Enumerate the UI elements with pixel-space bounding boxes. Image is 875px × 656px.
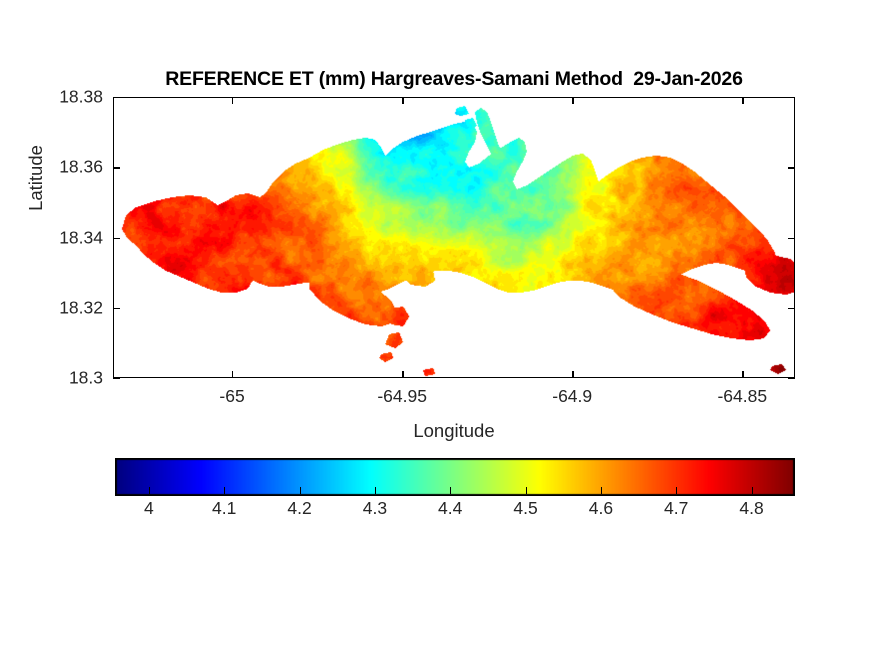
x-tick-mark — [742, 97, 743, 104]
colorbar-tick-label: 4.8 — [739, 498, 763, 519]
y-tick-mark — [113, 238, 120, 239]
colorbar-tick-label: 4.6 — [589, 498, 613, 519]
colorbar-tick-label: 4.5 — [513, 498, 537, 519]
page-title: REFERENCE ET (mm) Hargreaves-Samani Meth… — [113, 68, 795, 91]
y-tick-mark — [113, 97, 120, 98]
y-tick-mark — [113, 308, 120, 309]
y-tick-mark — [788, 238, 795, 239]
colorbar-tick-mark — [375, 487, 376, 494]
colorbar-tick-mark — [224, 487, 225, 494]
x-tick-mark — [402, 97, 403, 104]
colorbar-tick-label: 4.4 — [438, 498, 462, 519]
colorbar-tick-label: 4.7 — [664, 498, 688, 519]
x-tick-mark — [572, 371, 573, 378]
y-axis-label: Latitude — [25, 108, 47, 248]
colorbar-tick-mark — [601, 487, 602, 494]
colorbar-gradient — [115, 458, 795, 496]
y-tick-mark — [113, 167, 120, 168]
colorbar-tick-mark — [149, 487, 150, 494]
colorbar-tick-mark — [752, 487, 753, 494]
y-tick-mark — [788, 308, 795, 309]
y-tick-label: 18.38 — [3, 87, 103, 108]
colorbar-tick-mark — [526, 487, 527, 494]
colorbar-tick-label: 4 — [144, 498, 154, 519]
y-tick-mark — [788, 378, 795, 379]
colorbar-tick-mark — [676, 487, 677, 494]
reference-et-heatmap — [114, 98, 794, 377]
y-tick-label: 18.3 — [3, 368, 103, 389]
colorbar-container — [115, 458, 793, 494]
x-tick-label: -64.95 — [377, 386, 427, 407]
x-tick-mark — [232, 371, 233, 378]
x-tick-mark — [572, 97, 573, 104]
x-tick-label: -64.85 — [717, 386, 767, 407]
y-tick-mark — [788, 167, 795, 168]
y-tick-label: 18.32 — [3, 297, 103, 318]
colorbar-tick-label: 4.2 — [287, 498, 311, 519]
colorbar-tick-label: 4.3 — [363, 498, 387, 519]
y-tick-label: 18.36 — [3, 157, 103, 178]
colorbar-tick-label: 4.1 — [212, 498, 236, 519]
x-tick-label: -64.9 — [552, 386, 592, 407]
y-tick-mark — [113, 378, 120, 379]
y-tick-mark — [788, 97, 795, 98]
x-tick-mark — [232, 97, 233, 104]
matlab-figure-window: REFERENCE ET (mm) Hargreaves-Samani Meth… — [0, 0, 875, 656]
y-tick-label: 18.34 — [3, 227, 103, 248]
x-axis-label: Longitude — [113, 420, 795, 442]
colorbar-tick-mark — [450, 487, 451, 494]
colorbar-tick-mark — [300, 487, 301, 494]
map-axes — [113, 97, 795, 378]
x-tick-mark — [742, 371, 743, 378]
x-tick-label: -65 — [219, 386, 244, 407]
x-tick-mark — [402, 371, 403, 378]
